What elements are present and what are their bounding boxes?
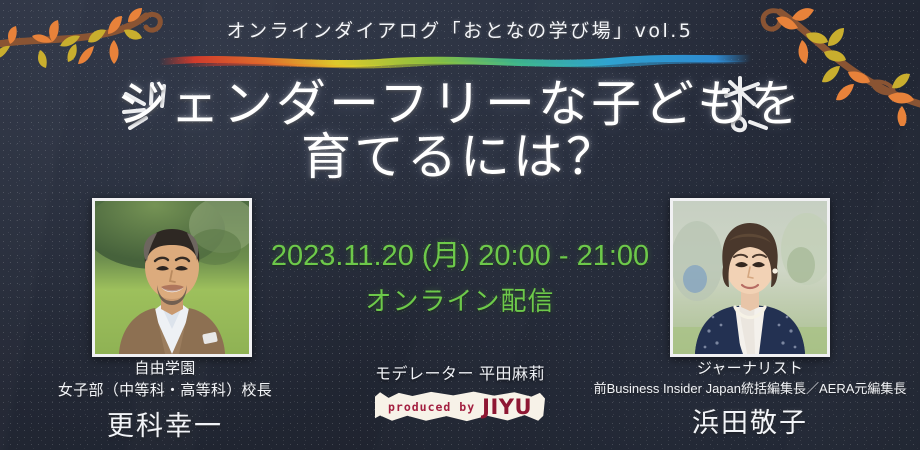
speaker-right-name: 浜田敬子 [580,401,920,440]
speaker-photo-right [670,198,830,357]
rainbow-chalk-underline [155,52,755,74]
title-line-1: ジェンダーフリーな子どもを [117,75,803,133]
speaker-left-org: 自由学園 [0,358,330,380]
event-date-time: 2023.11.20 (月) 20:00 - 21:00 [255,240,665,273]
badge-produced-by-text: produced by [388,400,475,414]
speaker-right-role: 前Business Insider Japan統括編集長／AERA元編集長 [580,380,920,399]
speaker-caption-left: 自由学園 女子部（中等科・高等科）校長 更科幸一 [0,358,330,443]
speaker-caption-right: ジャーナリスト 前Business Insider Japan統括編集長／AER… [580,358,920,440]
badge-brand-name: JIYU [482,395,532,419]
speaker-left-name: 更科幸一 [0,404,330,443]
speaker-left-role: 女子部（中等科・高等科）校長 [0,380,330,402]
speaker-right-org: ジャーナリスト [580,358,920,380]
moderator-label: モデレーター 平田麻莉 [330,360,590,384]
event-format: オンライン配信 [255,281,665,318]
produced-by-badge: produced by JIYU [375,391,545,422]
event-poster: オンラインダイアログ「おとなの学び場」vol.5 [0,0,920,450]
poster-kicker: オンラインダイアログ「おとなの学び場」vol.5 [0,16,920,43]
page-title: ジェンダーフリーな子どもを 育てるには？ [0,78,920,184]
event-datetime-block: 2023.11.20 (月) 20:00 - 21:00 オンライン配信 [255,240,665,318]
speaker-photo-left [92,198,252,357]
title-line-2: 育てるには？ [0,131,920,184]
